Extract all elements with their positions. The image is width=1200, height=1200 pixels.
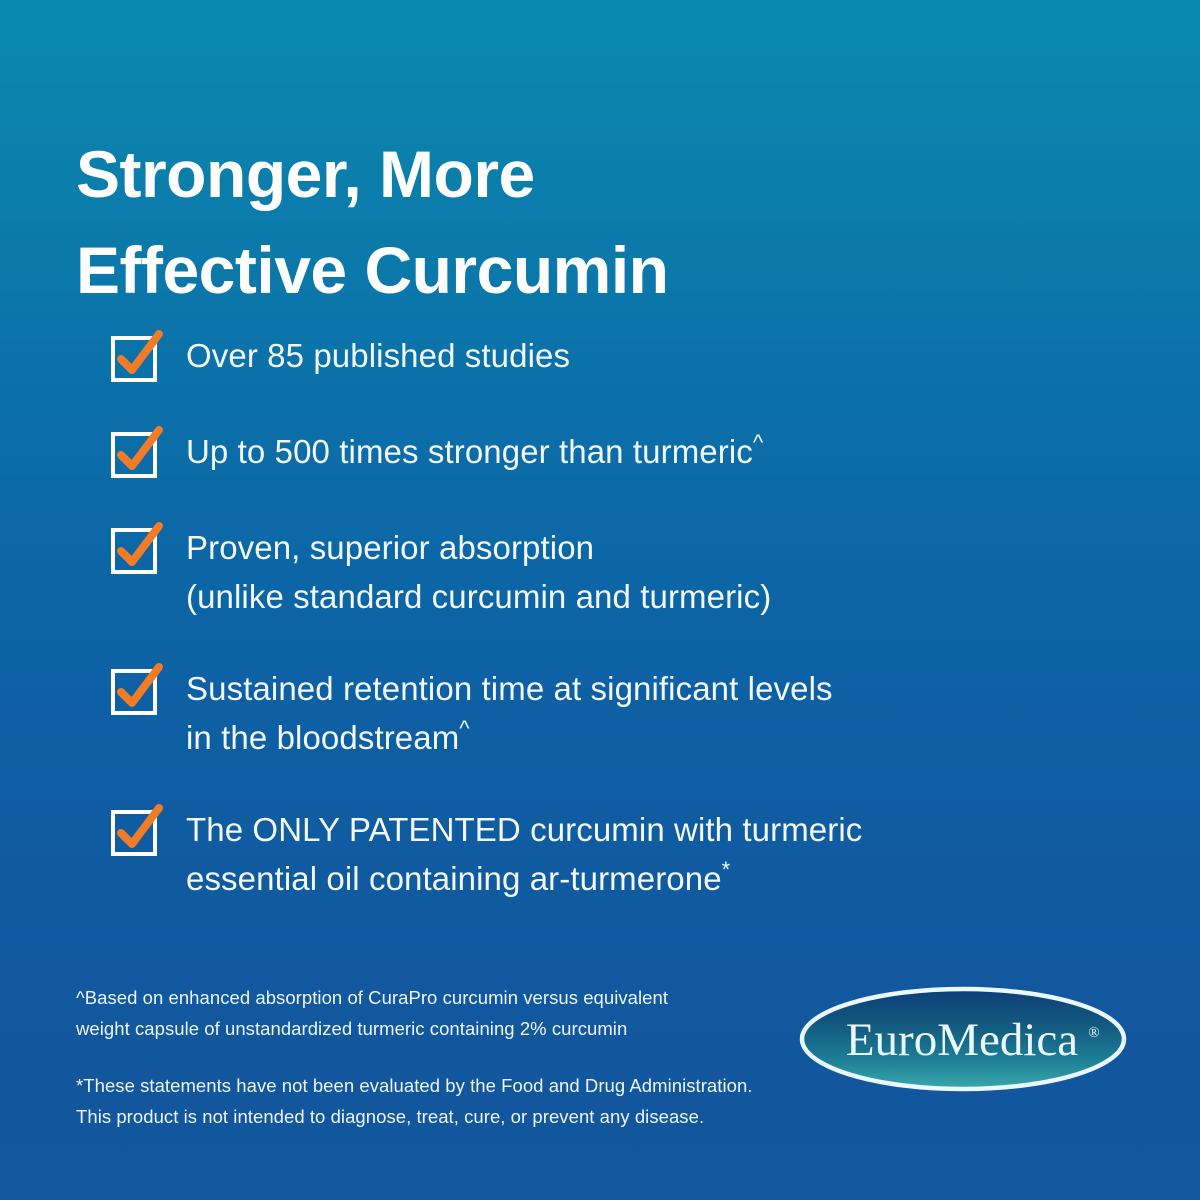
footnotes: ^Based on enhanced absorption of CuraPro… (76, 982, 816, 1132)
checked-checkbox-icon (110, 524, 162, 576)
footnote-fda-disclaimer: *These statements have not been evaluate… (76, 1070, 816, 1132)
list-item-text: Over 85 published studies (186, 330, 570, 380)
checked-checkbox-icon (110, 665, 162, 717)
list-item-line: The ONLY PATENTED curcumin with turmeric (186, 805, 862, 854)
list-item: The ONLY PATENTED curcumin with turmeric… (110, 804, 1120, 903)
list-item-text: The ONLY PATENTED curcumin with turmeric… (186, 804, 862, 903)
list-item-text: Sustained retention time at significant … (186, 663, 833, 762)
headline-line-2: Effective Curcumin (76, 222, 976, 318)
headline-line-1: Stronger, More (76, 126, 976, 222)
list-item-text: Up to 500 times stronger than turmeric^ (186, 426, 763, 476)
page-title: Stronger, More Effective Curcumin (76, 126, 976, 318)
footnote-line: *These statements have not been evaluate… (76, 1070, 816, 1101)
footnote-line: This product is not intended to diagnose… (76, 1101, 816, 1132)
footnote-line: weight capsule of unstandardized turmeri… (76, 1013, 816, 1044)
footnote-marker: * (722, 857, 731, 882)
footnote-marker: ^ (459, 716, 469, 741)
list-item: Proven, superior absorption (unlike stan… (110, 522, 1120, 621)
list-item-line: Up to 500 times stronger than turmeric^ (186, 427, 763, 476)
list-item-line: Proven, superior absorption (186, 523, 771, 572)
registered-trademark-icon: ® (1088, 1025, 1099, 1041)
logo-wordmark: EuroMedica (846, 1014, 1078, 1066)
list-item-line: essential oil containing ar-turmerone* (186, 854, 862, 903)
list-item-line: Sustained retention time at significant … (186, 664, 833, 713)
list-item: Sustained retention time at significant … (110, 663, 1120, 762)
list-item-line: in the bloodstream^ (186, 713, 833, 762)
list-item-line-text: essential oil containing ar-turmerone (186, 860, 722, 897)
promo-canvas: Stronger, More Effective Curcumin Over 8… (0, 0, 1200, 1200)
footnote-absorption: ^Based on enhanced absorption of CuraPro… (76, 982, 816, 1044)
checked-checkbox-icon (110, 806, 162, 858)
list-item-line: Over 85 published studies (186, 331, 570, 380)
list-item: Over 85 published studies (110, 330, 1120, 384)
list-item-line: (unlike standard curcumin and turmeric) (186, 572, 771, 621)
euromedica-logo: EuroMedica ® (798, 985, 1128, 1093)
benefits-checklist: Over 85 published studies Up to 500 time… (110, 330, 1120, 903)
footnote-marker: ^ (753, 430, 763, 455)
checked-checkbox-icon (110, 332, 162, 384)
footnote-line: ^Based on enhanced absorption of CuraPro… (76, 982, 816, 1013)
checked-checkbox-icon (110, 428, 162, 480)
list-item-line-text: Up to 500 times stronger than turmeric (186, 433, 753, 470)
list-item: Up to 500 times stronger than turmeric^ (110, 426, 1120, 480)
list-item-line-text: in the bloodstream (186, 719, 459, 756)
list-item-text: Proven, superior absorption (unlike stan… (186, 522, 771, 621)
